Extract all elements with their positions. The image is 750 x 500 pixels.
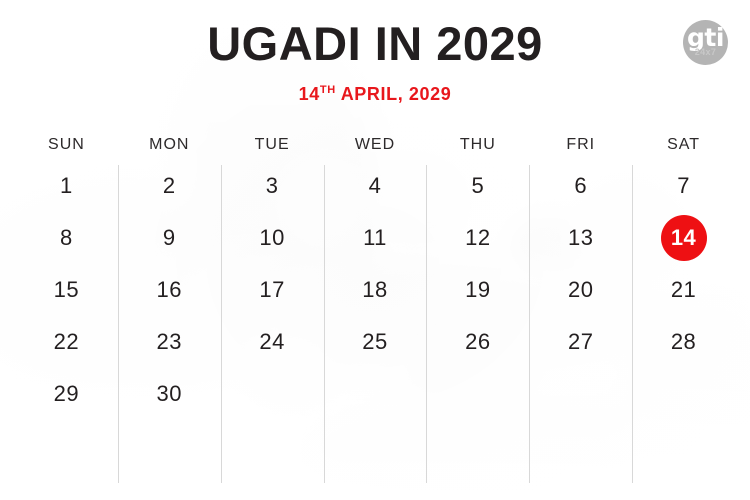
day-number: 8 — [60, 225, 73, 251]
calendar-weeks: 1234567891011121314151617181920212223242… — [15, 160, 735, 420]
weekday-header-fri: FRI — [529, 130, 632, 160]
poster-header: UGADI IN 2029 14TH APRIL, 2029 — [0, 0, 750, 120]
day-cell[interactable]: 1 — [15, 160, 118, 212]
day-number: 11 — [363, 225, 387, 251]
day-number: 1 — [60, 173, 73, 199]
day-cell[interactable]: 19 — [426, 264, 529, 316]
day-cell[interactable]: 5 — [426, 160, 529, 212]
gti-logo[interactable]: gti 24x7 — [683, 20, 728, 65]
day-cell[interactable]: 30 — [118, 368, 221, 420]
day-cell[interactable]: 29 — [15, 368, 118, 420]
day-number: 30 — [157, 381, 182, 407]
event-date-subtitle: 14TH APRIL, 2029 — [0, 85, 750, 103]
weekday-header-thu: THU — [426, 130, 529, 160]
day-number: 13 — [568, 225, 593, 251]
day-number: 15 — [54, 277, 79, 303]
day-cell[interactable]: 25 — [324, 316, 427, 368]
day-number: 10 — [259, 225, 284, 251]
day-number: 29 — [54, 381, 79, 407]
day-cell[interactable]: 28 — [632, 316, 735, 368]
day-cell[interactable]: 23 — [118, 316, 221, 368]
subtitle-day: 14 — [299, 84, 320, 104]
subtitle-month-year: APRIL, 2029 — [336, 84, 452, 104]
day-number: 22 — [54, 329, 79, 355]
day-cell[interactable]: 20 — [529, 264, 632, 316]
day-number: 7 — [677, 173, 690, 199]
calendar-poster: UGADI IN 2029 14TH APRIL, 2029 gti 24x7 … — [0, 0, 750, 500]
day-cell[interactable]: 2 — [118, 160, 221, 212]
day-cell-empty — [426, 368, 529, 420]
day-number: 3 — [266, 173, 279, 199]
day-number: 26 — [465, 329, 490, 355]
calendar-week-row: 1234567 — [15, 160, 735, 212]
day-cell[interactable]: 9 — [118, 212, 221, 264]
day-number: 23 — [157, 329, 182, 355]
day-cell[interactable]: 17 — [221, 264, 324, 316]
day-cell[interactable]: 21 — [632, 264, 735, 316]
day-cell-highlighted[interactable]: 14 — [632, 212, 735, 264]
day-cell[interactable]: 6 — [529, 160, 632, 212]
weekday-header-wed: WED — [324, 130, 427, 160]
day-cell[interactable]: 10 — [221, 212, 324, 264]
day-number: 24 — [259, 329, 284, 355]
day-number: 25 — [362, 329, 387, 355]
day-number: 9 — [163, 225, 176, 251]
day-cell-empty — [632, 368, 735, 420]
day-number: 12 — [465, 225, 490, 251]
day-number: 6 — [574, 173, 587, 199]
weekday-header-tue: TUE — [221, 130, 324, 160]
weekday-header-sun: SUN — [15, 130, 118, 160]
page-title: UGADI IN 2029 — [0, 20, 750, 67]
day-cell[interactable]: 22 — [15, 316, 118, 368]
day-number: 20 — [568, 277, 593, 303]
day-cell[interactable]: 8 — [15, 212, 118, 264]
day-cell[interactable]: 18 — [324, 264, 427, 316]
day-number: 21 — [671, 277, 696, 303]
day-cell[interactable]: 11 — [324, 212, 427, 264]
calendar-week-row: 22232425262728 — [15, 316, 735, 368]
day-number: 16 — [157, 277, 182, 303]
weekday-header-sat: SAT — [632, 130, 735, 160]
day-cell-empty — [324, 368, 427, 420]
day-number: 28 — [671, 329, 696, 355]
day-cell[interactable]: 7 — [632, 160, 735, 212]
day-cell[interactable]: 3 — [221, 160, 324, 212]
day-cell[interactable]: 26 — [426, 316, 529, 368]
day-cell-empty — [221, 368, 324, 420]
calendar-week-row: 891011121314 — [15, 212, 735, 264]
day-cell[interactable]: 27 — [529, 316, 632, 368]
weekday-header-row: SUNMONTUEWEDTHUFRISAT — [15, 130, 735, 160]
day-cell[interactable]: 24 — [221, 316, 324, 368]
day-number: 18 — [362, 277, 387, 303]
day-number: 4 — [369, 173, 382, 199]
day-number: 17 — [259, 277, 284, 303]
day-cell[interactable]: 16 — [118, 264, 221, 316]
day-number: 2 — [163, 173, 176, 199]
calendar-week-row: 15161718192021 — [15, 264, 735, 316]
day-cell[interactable]: 15 — [15, 264, 118, 316]
calendar-week-row: 2930 — [15, 368, 735, 420]
day-cell[interactable]: 13 — [529, 212, 632, 264]
logo-tagline: 24x7 — [683, 48, 728, 57]
subtitle-ordinal-suffix: TH — [320, 84, 336, 96]
day-cell-empty — [529, 368, 632, 420]
day-number: 19 — [465, 277, 490, 303]
day-number: 5 — [471, 173, 484, 199]
day-cell[interactable]: 12 — [426, 212, 529, 264]
day-cell[interactable]: 4 — [324, 160, 427, 212]
calendar-grid: SUNMONTUEWEDTHUFRISAT 123456789101112131… — [15, 130, 735, 420]
weekday-header-mon: MON — [118, 130, 221, 160]
day-number: 27 — [568, 329, 593, 355]
day-number: 14 — [671, 225, 696, 251]
